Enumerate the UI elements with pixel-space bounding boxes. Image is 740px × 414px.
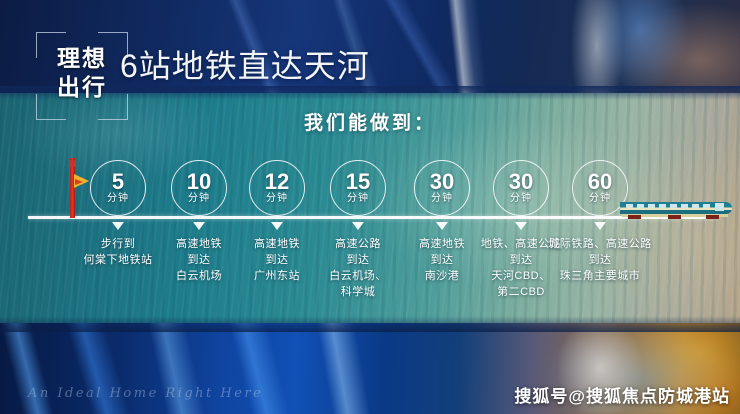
stop-time-circle: 5分钟 [90, 160, 146, 216]
train-window [626, 204, 633, 208]
stop-pointer-triangle-icon [515, 222, 527, 230]
stop-time-value: 12 [265, 171, 289, 192]
train-window [703, 204, 710, 208]
stop-time-value: 30 [430, 171, 454, 192]
train-bogie [706, 215, 719, 219]
stop-description: 城际铁路、高速公路到达珠三角主要城市 [545, 236, 655, 284]
brand-badge: 理想 出行 [36, 32, 128, 120]
train-bogie [668, 215, 681, 219]
train-window [648, 204, 655, 208]
stop-time-circle: 15分钟 [330, 160, 386, 216]
train-window [692, 204, 699, 208]
stop-time-circle: 12分钟 [249, 160, 305, 216]
stop-pointer-triangle-icon [594, 222, 606, 230]
stop-pointer-triangle-icon [352, 222, 364, 230]
train-window [681, 204, 688, 208]
stop-pointer-triangle-icon [193, 222, 205, 230]
stop-time-value: 60 [588, 171, 612, 192]
stop-time-value: 30 [509, 171, 533, 192]
stop-description-line: 科学城 [303, 284, 413, 300]
brand-text: 理想 出行 [36, 44, 128, 102]
watermark: 搜狐号@搜狐焦点防城港站 [514, 382, 730, 407]
train-cab-window [715, 203, 724, 211]
brand-line-1: 理想 [36, 44, 128, 73]
train-window [637, 204, 644, 208]
timeline-stop-7[interactable]: 60分钟城际铁路、高速公路到达珠三角主要城市 [545, 160, 655, 284]
train-window [659, 204, 666, 208]
stop-description-line: 到达 [545, 252, 655, 268]
stop-time-value: 10 [187, 171, 211, 192]
train-bogie [628, 215, 641, 219]
train-window [670, 204, 677, 208]
stop-time-unit: 分钟 [431, 192, 453, 205]
stop-time-unit: 分钟 [266, 192, 288, 205]
tagline-script: An Ideal Home Right Here [28, 386, 263, 401]
stop-description-line: 城际铁路、高速公路 [545, 236, 655, 252]
stop-time-circle: 30分钟 [493, 160, 549, 216]
stop-description-line: 珠三角主要城市 [545, 268, 655, 284]
stop-description-line: 第二CBD [466, 284, 576, 300]
brand-line-2: 出行 [36, 73, 128, 102]
stop-time-value: 15 [346, 171, 370, 192]
stop-time-unit: 分钟 [589, 192, 611, 205]
stop-pointer-triangle-icon [112, 222, 124, 230]
high-speed-train-icon [620, 202, 732, 219]
stop-time-circle: 30分钟 [414, 160, 470, 216]
stop-time-unit: 分钟 [510, 192, 532, 205]
stop-time-unit: 分钟 [188, 192, 210, 205]
page-title: 6站地铁直达天河 [120, 46, 370, 86]
promo-banner: 理想 出行 6站地铁直达天河 我们能做到： 5分钟步行到何棠下地铁站10分钟高速… [0, 0, 740, 414]
stop-pointer-triangle-icon [271, 222, 283, 230]
stop-time-value: 5 [112, 171, 124, 192]
stop-time-circle: 10分钟 [171, 160, 227, 216]
subtitle: 我们能做到： [0, 108, 740, 135]
stop-pointer-triangle-icon [436, 222, 448, 230]
stop-time-unit: 分钟 [107, 192, 129, 205]
stop-time-unit: 分钟 [347, 192, 369, 205]
